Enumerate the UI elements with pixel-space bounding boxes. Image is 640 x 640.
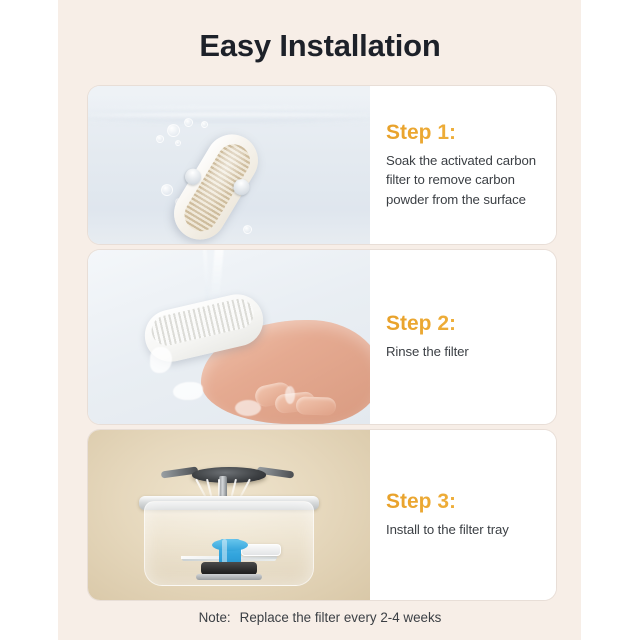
- water-surface-line-top: [88, 107, 370, 113]
- bubble-icon: [184, 118, 193, 127]
- water-tank-scene: [88, 86, 370, 244]
- page-title: Easy Installation: [0, 28, 640, 64]
- step-2-text-panel: Step 2: Rinse the filter: [370, 250, 556, 424]
- step-3-text-panel: Step 3: Install to the filter tray: [370, 430, 556, 600]
- bubble-icon: [201, 121, 208, 128]
- bubble-icon: [161, 184, 173, 196]
- water-splash: [150, 347, 172, 373]
- bubble-icon: [175, 140, 181, 146]
- step-1-description: Soak the activated carbon filter to remo…: [386, 151, 542, 208]
- water-surface-line-low: [88, 119, 370, 124]
- pet-fountain-scene: [88, 430, 370, 600]
- bubble-icon: [167, 124, 180, 137]
- step-1-text-panel: Step 1: Soak the activated carbon filter…: [370, 86, 556, 244]
- water-splash: [235, 400, 261, 416]
- step-2-title: Step 2:: [386, 312, 542, 335]
- note-text: Replace the filter every 2-4 weeks: [240, 610, 442, 625]
- step-3-image: [88, 430, 370, 600]
- step-2-image: [88, 250, 370, 424]
- step-card-1: Step 1: Soak the activated carbon filter…: [88, 86, 556, 244]
- step-1-title: Step 1:: [386, 121, 542, 144]
- step-1-image: [88, 86, 370, 244]
- pump-base: [196, 574, 263, 580]
- bubble-icon: [243, 225, 252, 234]
- installation-infographic: Easy Installation: [0, 0, 640, 640]
- fountain-nozzle: [192, 467, 265, 482]
- note-label: Note:: [199, 610, 231, 625]
- step-card-2: Step 2: Rinse the filter: [88, 250, 556, 424]
- finger: [296, 396, 336, 415]
- footer-note: Note:Replace the filter every 2-4 weeks: [0, 610, 640, 625]
- filter-core: [149, 296, 257, 349]
- step-3-description: Install to the filter tray: [386, 520, 542, 539]
- step-3-title: Step 3:: [386, 490, 542, 513]
- fountain-reservoir: [144, 501, 313, 586]
- water-splash: [173, 382, 203, 400]
- hand-rinse-scene: [88, 250, 370, 424]
- step-card-3: Step 3: Install to the filter tray: [88, 430, 556, 600]
- water-stream-thin: [202, 250, 209, 306]
- bubble-icon: [156, 135, 164, 143]
- step-2-description: Rinse the filter: [386, 342, 542, 361]
